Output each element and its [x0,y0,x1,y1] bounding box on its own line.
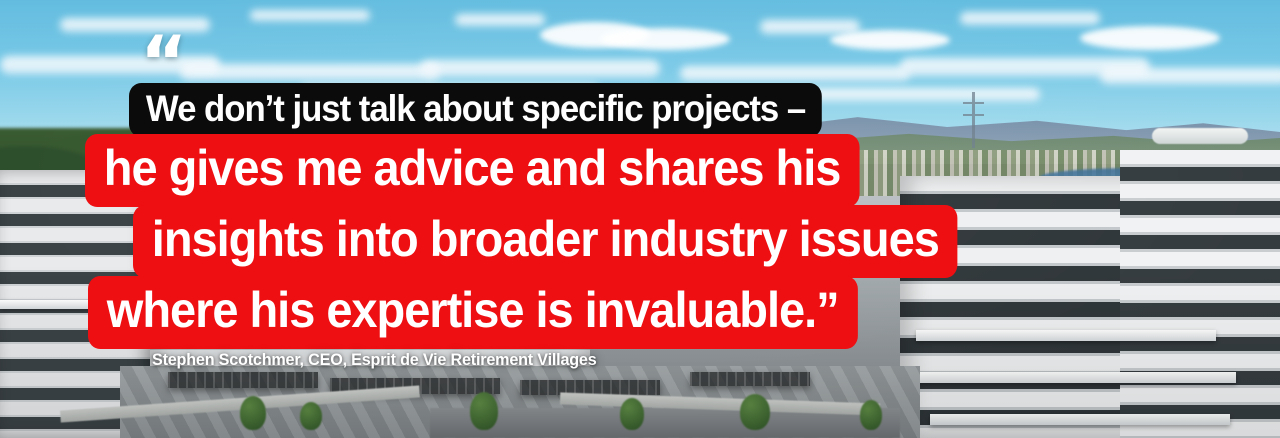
quote-block: We don’t just talk about specific projec… [0,0,1280,438]
quote-attribution: Stephen Scotchmer, CEO, Esprit de Vie Re… [152,350,597,370]
quote-line-2: he gives me advice and shares his [85,134,859,207]
quote-line-4: where his expertise is invaluable.” [88,276,857,349]
quote-line-3: insights into broader industry issues [133,205,958,278]
testimonial-banner: “ We don’t just talk about specific proj… [0,0,1280,438]
quote-line-1: We don’t just talk about specific projec… [129,83,822,137]
